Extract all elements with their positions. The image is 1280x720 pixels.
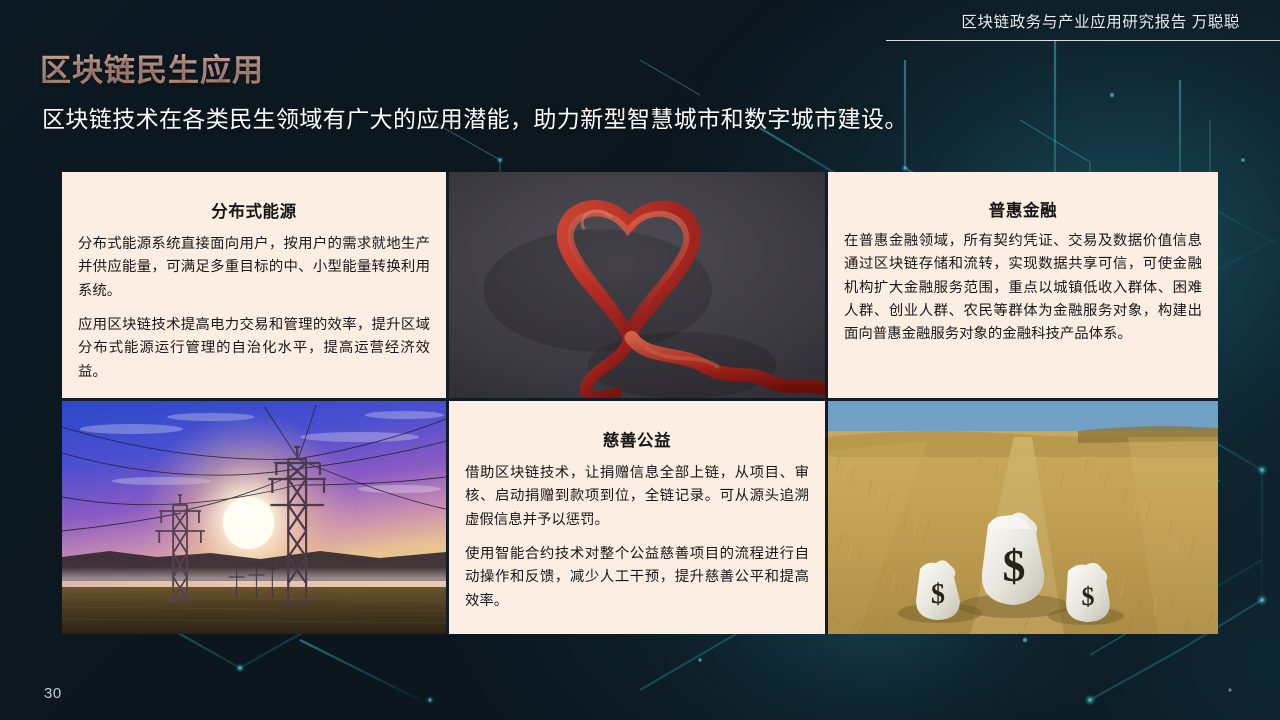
image-ribbon-heart-photo: [449, 172, 828, 401]
page-title: 区块链民生应用: [40, 45, 264, 90]
header-report-label: 区块链政务与产业应用研究报告 万聪聪: [961, 10, 1240, 32]
power-lines-illustration: [62, 401, 446, 634]
card-paragraph: 应用区块链技术提高电力交易和管理的效率，提升区域分布式能源运行管理的自治化水平，…: [78, 314, 430, 384]
card-paragraph: 分布式能源系统直接面向用户，按用户的需求就地生产并供应能量，可满足多重目标的中、…: [78, 233, 430, 303]
card-charity-public-welfare[interactable]: 慈善公益 借助区块链技术，让捐赠信息全部上链，从项目、审核、启动捐赠到款项到位，…: [449, 401, 828, 634]
money-bags-field-illustration: $ $ $: [828, 401, 1218, 634]
card-title-inclusive-finance: 普惠金融: [844, 197, 1202, 221]
page-number: 30: [44, 685, 62, 702]
card-paragraph: 使用智能合约技术对整个公益慈善项目的流程进行自动操作和反馈，减少人工干预，提升慈…: [465, 543, 809, 613]
header-divider-rule: [886, 40, 1280, 41]
svg-text:$: $: [1082, 582, 1095, 611]
card-title-distributed-energy: 分布式能源: [78, 198, 430, 222]
svg-text:$: $: [931, 579, 945, 610]
image-power-lines-photo: [62, 401, 449, 634]
card-paragraph: 在普惠金融领域，所有契约凭证、交易及数据价值信息通过区块链存储和流转，实现数据共…: [844, 230, 1202, 347]
card-title-charity-public-welfare: 慈善公益: [465, 427, 809, 451]
card-inclusive-finance[interactable]: 普惠金融 在普惠金融领域，所有契约凭证、交易及数据价值信息通过区块链存储和流转，…: [828, 172, 1218, 401]
page-subtitle: 区块链技术在各类民生领域有广大的应用潜能，助力新型智慧城市和数字城市建设。: [42, 100, 908, 134]
content-grid: 分布式能源 分布式能源系统直接面向用户，按用户的需求就地生产并供应能量，可满足多…: [62, 172, 1218, 634]
svg-text:$: $: [1003, 540, 1026, 591]
card-distributed-energy[interactable]: 分布式能源 分布式能源系统直接面向用户，按用户的需求就地生产并供应能量，可满足多…: [62, 172, 449, 401]
card-paragraph: 借助区块链技术，让捐赠信息全部上链，从项目、审核、启动捐赠到款项到位，全链记录。…: [465, 462, 809, 532]
image-money-bags-field-photo: $ $ $: [828, 401, 1218, 634]
